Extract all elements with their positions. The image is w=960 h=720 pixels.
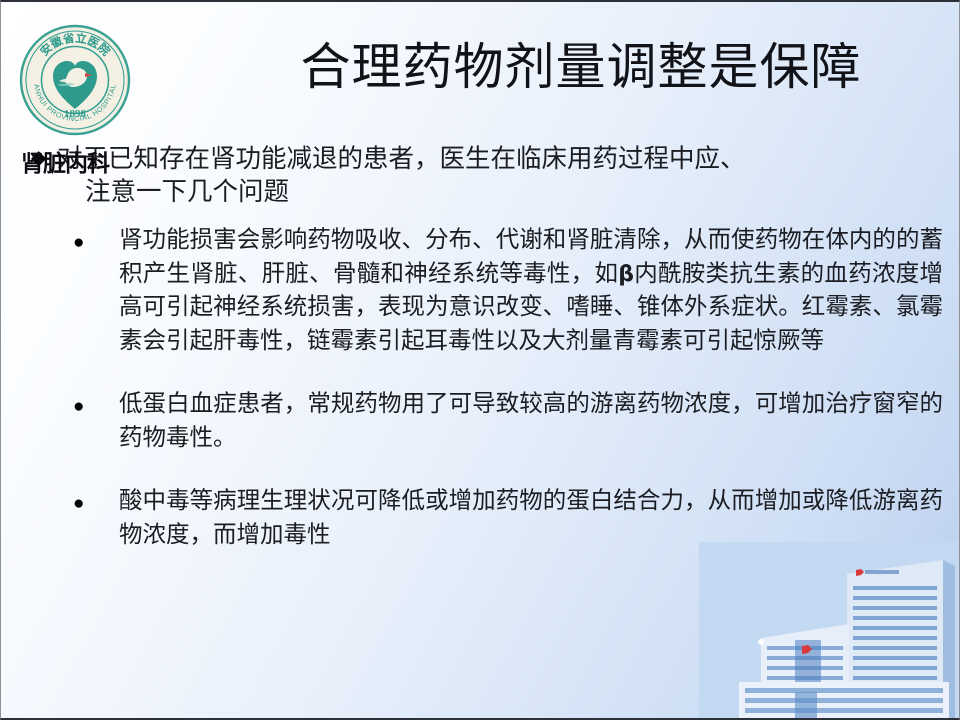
list-item-text: 肾功能损害会影响药物吸收、分布、代谢和肾脏清除，从而使药物在体内的的蓄积产生肾脏… — [119, 224, 943, 358]
hospital-logo: 安徽省立医院 ANHUI PROVINCIAL HOSPITAL 1898 — [19, 24, 131, 136]
round-bullet-icon: ● — [73, 485, 119, 519]
slide-title: 合理药物剂量调整是保障 — [221, 40, 941, 94]
list-item: ● 酸中毒等病理生理状况可降低或增加药物的蛋白结合力，从而增加或降低游离药物浓度… — [73, 485, 943, 552]
list-item-text-part1: 酸中毒等病理生理状况可降低或增加药物的蛋白结合力，从而增加或降低游离药物浓度，而… — [119, 488, 943, 548]
podium-building — [739, 682, 949, 718]
list-item: ● 低蛋白血症患者，常规药物用了可导致较高的游离药物浓度，可增加治疗窗窄的药物毒… — [73, 388, 943, 455]
department-stamp: 肾脏内科 — [21, 144, 109, 178]
beta-symbol: β — [618, 262, 634, 287]
round-bullet-icon: ● — [73, 388, 119, 422]
bullet-list: ● 肾功能损害会影响药物吸收、分布、代谢和肾脏清除，从而使药物在体内的的蓄积产生… — [73, 224, 943, 578]
list-item-text: 酸中毒等病理生理状况可降低或增加药物的蛋白结合力，从而增加或降低游离药物浓度，而… — [119, 485, 943, 552]
presentation-slide: 安徽省立医院 ANHUI PROVINCIAL HOSPITAL 1898 合理… — [0, 0, 960, 720]
list-item-text-part1: 低蛋白血症患者，常规药物用了可导致较高的游离药物浓度，可增加治疗窗窄的药物毒性。 — [119, 391, 943, 451]
logo-year: 1898 — [64, 108, 87, 120]
list-item: ● 肾功能损害会影响药物吸收、分布、代谢和肾脏清除，从而使药物在体内的的蓄积产生… — [73, 224, 943, 358]
lead-line-1: 对于已知存在肾功能减退的患者，医生在临床用药过程中应、 — [57, 144, 746, 173]
lead-row: ◆ 对于已知存在肾功能减退的患者，医生在临床用药过程中应、 注意一下几个问题 — [31, 142, 941, 208]
lead-paragraph: ◆ 对于已知存在肾功能减退的患者，医生在临床用药过程中应、 注意一下几个问题 — [31, 142, 941, 208]
lead-body: 对于已知存在肾功能减退的患者，医生在临床用药过程中应、 注意一下几个问题 — [57, 142, 941, 208]
hospital-logo-svg: 安徽省立医院 ANHUI PROVINCIAL HOSPITAL 1898 — [19, 24, 131, 136]
list-item-text: 低蛋白血症患者，常规药物用了可导致较高的游离药物浓度，可增加治疗窗窄的药物毒性。 — [119, 388, 943, 455]
round-bullet-icon: ● — [73, 224, 119, 258]
lead-line-2: 注意一下几个问题 — [57, 175, 941, 208]
